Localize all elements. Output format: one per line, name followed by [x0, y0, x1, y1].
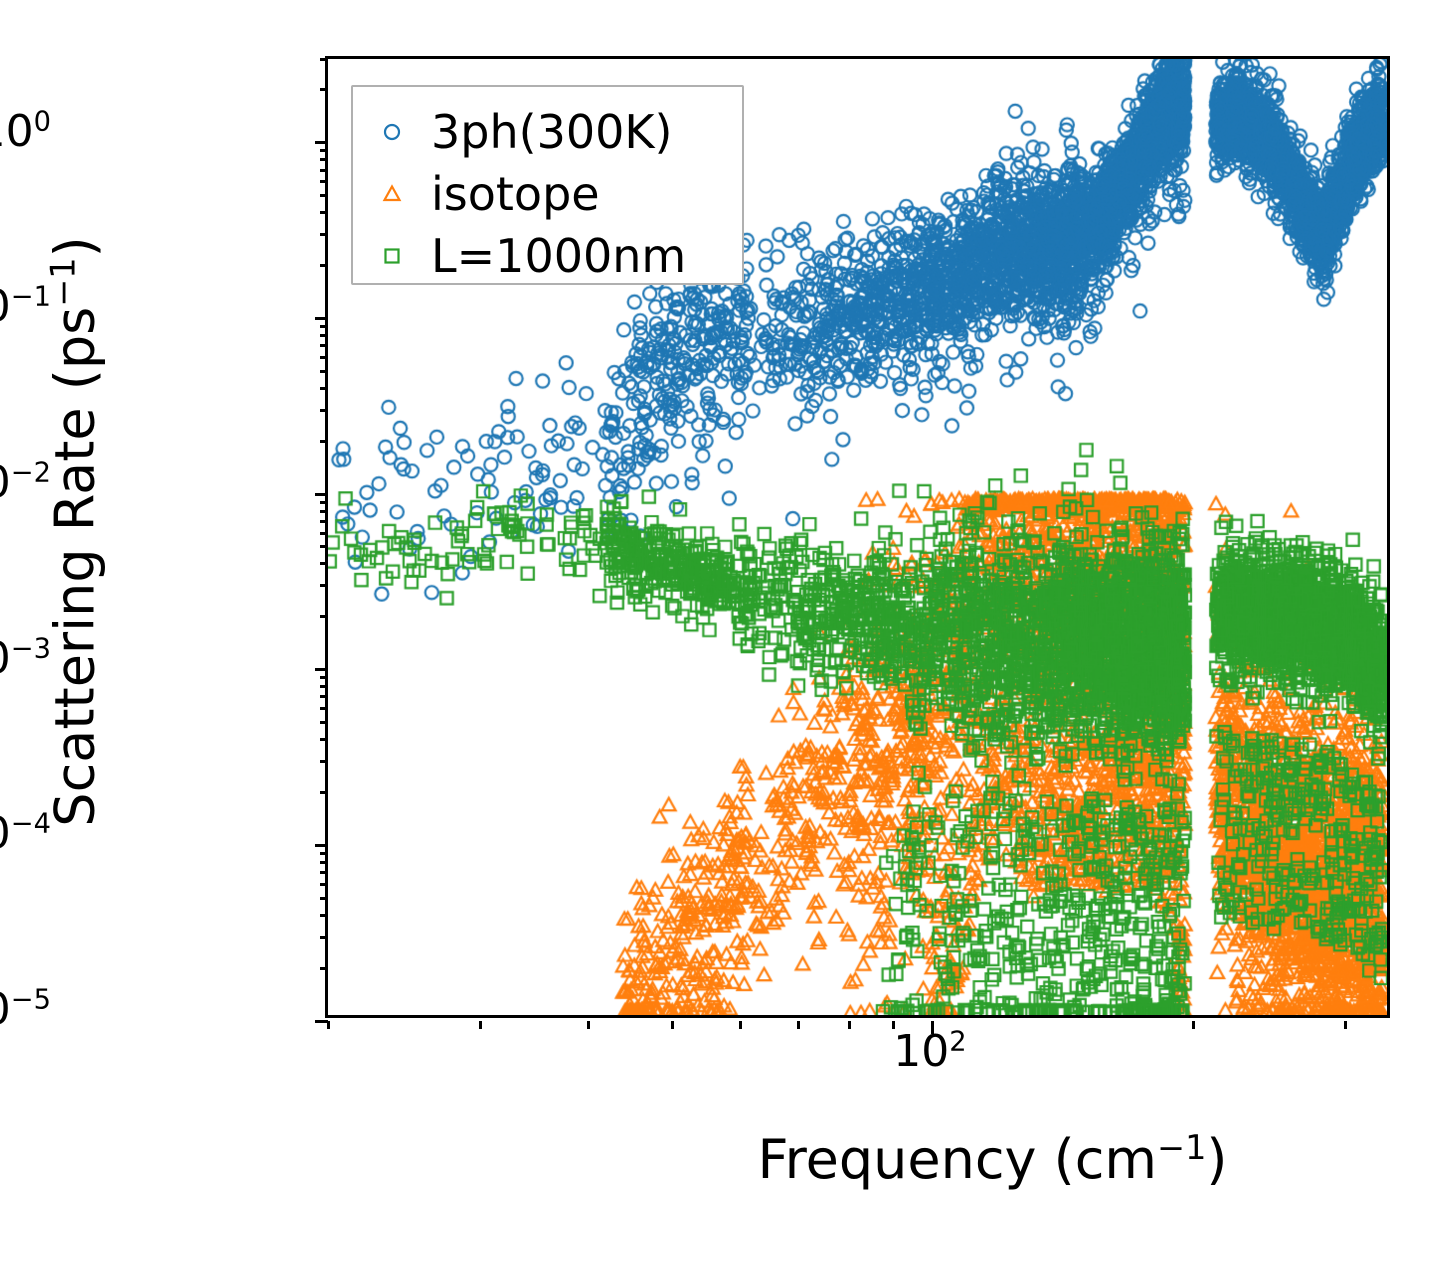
y-tick-minor [320, 738, 328, 741]
figure: 10010−110−210−310−410−5102 3ph(300K)isot… [0, 0, 1455, 1265]
x-tick-minor [327, 1021, 330, 1029]
legend-item-0[interactable]: 3ph(300K) [353, 101, 742, 163]
y-tick-minor [320, 695, 328, 698]
y-tick-minor [320, 520, 328, 523]
x-tick-minor [739, 1021, 742, 1029]
y-tick-minor [320, 58, 328, 61]
y-tick-minor [320, 356, 328, 359]
y-tick-minor [320, 721, 328, 724]
legend-label: 3ph(300K) [431, 109, 672, 155]
y-tick-minor [320, 676, 328, 679]
x-tick-minor [671, 1021, 674, 1029]
legend-label: L=1000nm [431, 233, 686, 279]
y-tick-minor [320, 852, 328, 855]
chart-legend[interactable]: 3ph(300K)isotopeL=1000nm [351, 85, 744, 285]
y-tick-minor [320, 325, 328, 328]
y-tick-major [315, 844, 328, 847]
y-tick-minor [320, 615, 328, 618]
y-tick-major [315, 668, 328, 671]
y-tick-minor [320, 791, 328, 794]
y-tick-minor [320, 169, 328, 172]
legend-item-2[interactable]: L=1000nm [353, 225, 742, 287]
y-tick-minor [320, 370, 328, 373]
y-tick-minor [320, 562, 328, 565]
circle-marker-icon [353, 121, 431, 143]
x-axis-title: Frequency (cm−1) [0, 1128, 1455, 1191]
triangle-marker-icon [353, 183, 431, 205]
y-tick-minor [320, 914, 328, 917]
y-tick-minor [320, 344, 328, 347]
x-tick-minor [797, 1021, 800, 1029]
y-tick-major [315, 317, 328, 320]
y-tick-minor [320, 760, 328, 763]
y-tick-minor [320, 149, 328, 152]
y-tick-minor [320, 387, 328, 390]
y-tick-minor [320, 897, 328, 900]
y-tick-minor [320, 88, 328, 91]
y-tick-minor [320, 158, 328, 161]
y-tick-major [315, 141, 328, 144]
y-tick-minor [320, 501, 328, 504]
y-axis-title-text: Scattering Rate (ps−1) [44, 236, 107, 826]
y-tick-minor [320, 211, 328, 214]
y-tick-minor [320, 532, 328, 535]
y-tick-minor [320, 967, 328, 970]
legend-item-1[interactable]: isotope [353, 163, 742, 225]
y-tick-minor [320, 883, 328, 886]
legend-label: isotope [431, 171, 600, 217]
x-tick-minor [1344, 1021, 1347, 1029]
x-tick-minor [1192, 1021, 1195, 1029]
x-tick-minor [587, 1021, 590, 1029]
y-tick-major [315, 493, 328, 496]
y-tick-minor [320, 871, 328, 874]
y-tick-minor [320, 264, 328, 267]
y-tick-minor [320, 545, 328, 548]
square-marker-icon [353, 245, 431, 267]
y-axis-title: Scattering Rate (ps−1) [44, 32, 107, 1032]
x-axis-title-text: Frequency (cm−1) [758, 1128, 1228, 1191]
y-tick-minor [320, 584, 328, 587]
y-tick-minor [320, 936, 328, 939]
x-tick-minor [479, 1021, 482, 1029]
y-tick-minor [320, 180, 328, 183]
y-tick-minor [320, 685, 328, 688]
y-tick-minor [320, 194, 328, 197]
y-tick-minor [320, 440, 328, 443]
x-tick-label: 102 [893, 1030, 966, 1074]
y-tick-minor [320, 861, 328, 864]
y-tick-minor [320, 233, 328, 236]
y-tick-minor [320, 409, 328, 412]
y-tick-minor [320, 707, 328, 710]
x-tick-minor [848, 1021, 851, 1029]
y-tick-minor [320, 510, 328, 513]
y-tick-minor [320, 334, 328, 337]
